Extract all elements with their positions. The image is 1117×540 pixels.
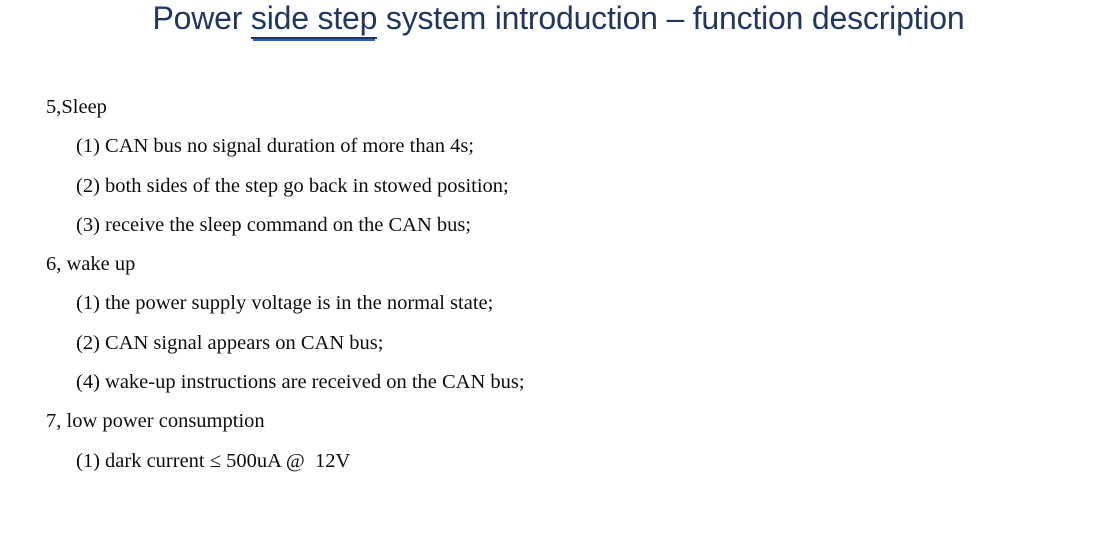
body-sub-line: (1) CAN bus no signal duration of more t… bbox=[0, 127, 1117, 166]
body-sub-line: (1) the power supply voltage is in the n… bbox=[0, 284, 1117, 323]
body-sub-line: (1) dark current ≤ 500uA @ 12V bbox=[0, 442, 1117, 481]
body-sub-line: (3) receive the sleep command on the CAN… bbox=[0, 206, 1117, 245]
body-sub-line: (2) both sides of the step go back in st… bbox=[0, 167, 1117, 206]
body-heading-line: 6, wake up bbox=[0, 245, 1117, 284]
slide-body: 5,Sleep(1) CAN bus no signal duration of… bbox=[0, 88, 1117, 481]
title-text-suffix: system introduction – function descripti… bbox=[377, 0, 964, 36]
body-sub-line: (4) wake-up instructions are received on… bbox=[0, 363, 1117, 402]
title-hyperlink-side-step[interactable]: side step bbox=[251, 0, 377, 39]
slide-canvas: Power side step system introduction – fu… bbox=[0, 0, 1117, 540]
title-text-prefix: Power bbox=[153, 0, 251, 36]
body-heading-line: 5,Sleep bbox=[0, 88, 1117, 127]
body-heading-line: 7, low power consumption bbox=[0, 402, 1117, 441]
body-sub-line: (2) CAN signal appears on CAN bus; bbox=[0, 324, 1117, 363]
slide-title: Power side step system introduction – fu… bbox=[0, 0, 1117, 39]
